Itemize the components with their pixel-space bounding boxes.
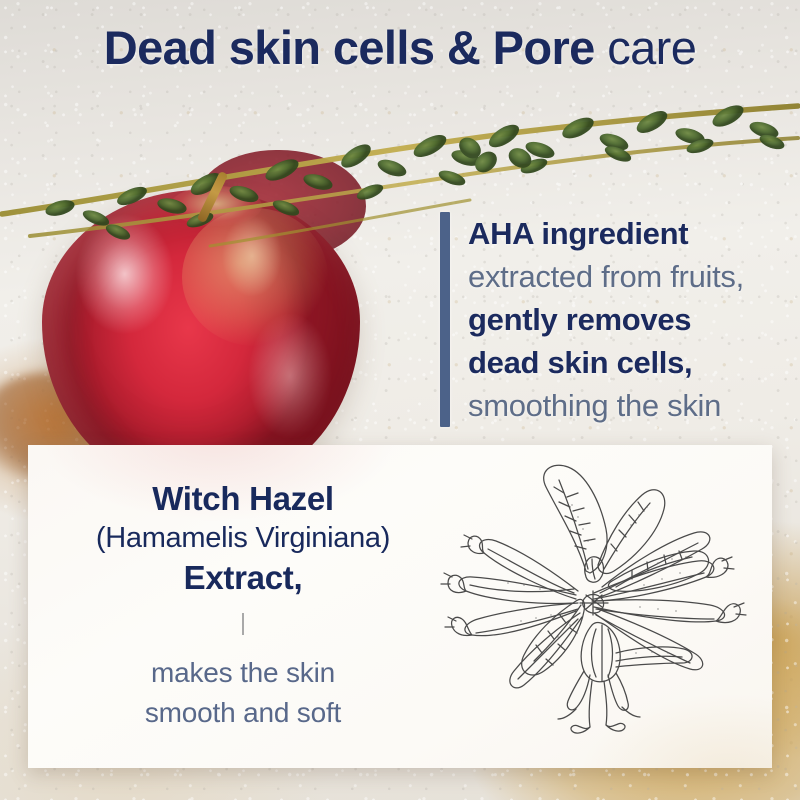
aha-line-3: gently removes xyxy=(468,298,744,341)
ingredient-name: Witch Hazel xyxy=(28,479,458,519)
witch-hazel-card: Witch Hazel (Hamamelis Virginiana) Extra… xyxy=(28,445,772,768)
aha-line-1: AHA ingredient xyxy=(468,212,744,255)
ingredient-latin: (Hamamelis Virginiana) xyxy=(28,519,458,557)
aha-text-lines: AHA ingredient extracted from fruits, ge… xyxy=(468,212,744,427)
aha-line-2: extracted from fruits, xyxy=(468,255,744,298)
benefit-line-1: makes the skin xyxy=(28,653,458,693)
benefit-line-2: smooth and soft xyxy=(28,693,458,733)
title-bold-part: Dead skin cells & Pore xyxy=(104,21,595,74)
aha-line-5: smoothing the skin xyxy=(468,384,744,427)
page-title: Dead skin cells & Pore care xyxy=(0,22,800,75)
aha-line-4: dead skin cells, xyxy=(468,341,744,384)
title-light-part: care xyxy=(607,21,696,74)
text-divider xyxy=(242,613,244,635)
product-benefit-poster: Dead skin cells & Pore care AHA ingredie… xyxy=(0,0,800,800)
witch-hazel-text-column: Witch Hazel (Hamamelis Virginiana) Extra… xyxy=(28,479,458,733)
vertical-accent-bar xyxy=(440,212,450,427)
aha-ingredient-block: AHA ingredient extracted from fruits, ge… xyxy=(440,212,744,427)
witch-hazel-flower-illustration xyxy=(426,453,772,763)
ingredient-form: Extract, xyxy=(28,557,458,599)
